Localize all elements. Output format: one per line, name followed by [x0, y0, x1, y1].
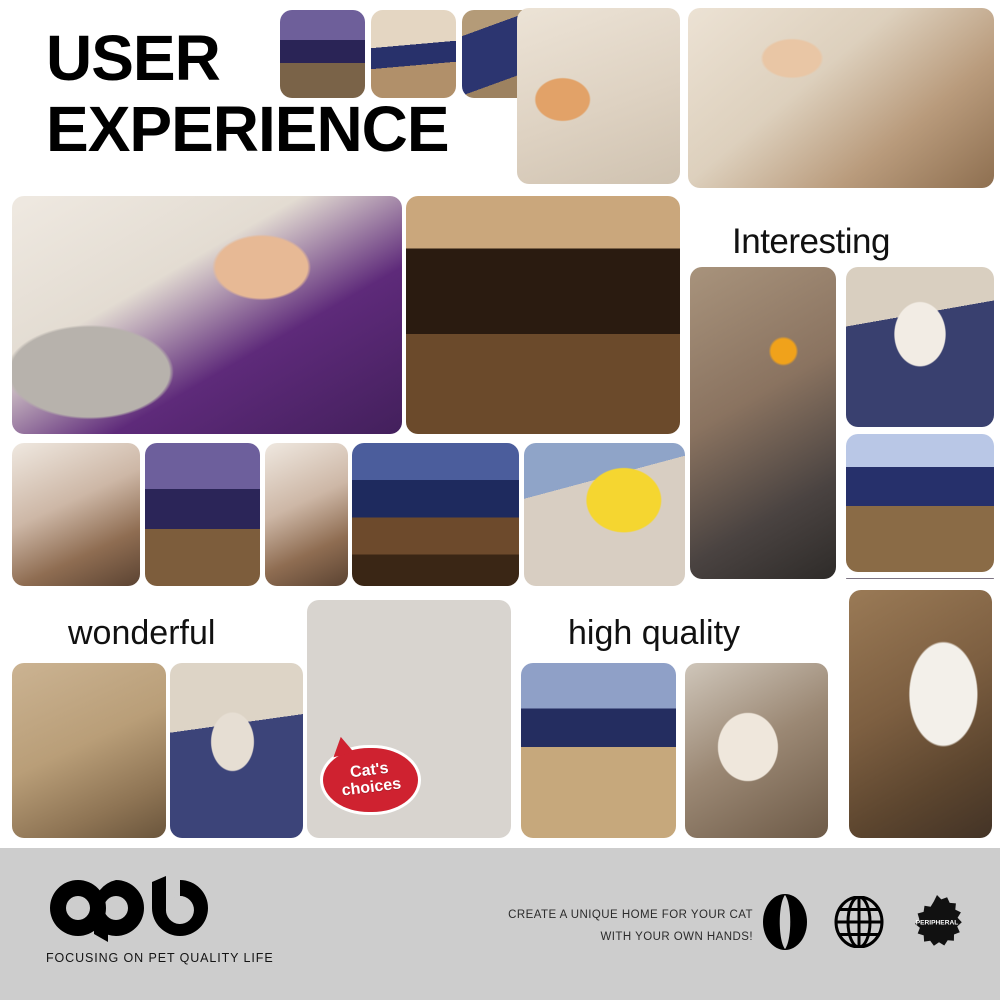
footer-copy-line-2: WITH YOUR OWN HANDS! — [505, 926, 753, 948]
caption-high-quality: high quality — [568, 614, 740, 653]
brand-logo: FOCUSING ON PET QUALITY LIFE — [46, 876, 274, 965]
page-title-line-1: USER — [46, 22, 220, 94]
promo-page: USER EXPERIENCE Interesting wonderful hi… — [0, 0, 1000, 1000]
footer: FOCUSING ON PET QUALITY LIFE CREATE A UN… — [0, 848, 1000, 1000]
footer-icon-group: PERIPHERAL — [762, 893, 964, 951]
photo-blue-eyed-cat-in-kimono — [846, 267, 994, 427]
caption-interesting: Interesting — [732, 222, 890, 262]
photo-woman-assembling-cat-villa — [688, 8, 994, 188]
peripheral-seal-icon: PERIPHERAL — [910, 895, 964, 949]
photo-cat-under-noren-curtain — [521, 663, 676, 838]
brand-tagline: FOCUSING ON PET QUALITY LIFE — [46, 951, 274, 965]
cats-choices-badge: Cat's choices — [323, 748, 418, 812]
eye-oval-icon — [762, 893, 808, 951]
photo-ragdoll-cat-front — [685, 663, 828, 838]
photo-white-cat-beside-sushi-shop — [265, 443, 348, 586]
page-title-line-2: EXPERIENCE — [46, 99, 516, 160]
photo-mini-blue-izakaya-setup — [846, 434, 994, 572]
photo-pikachu-plush-with-cat — [524, 443, 685, 586]
opb-logo-icon — [46, 876, 251, 942]
photo-cream-cat-climbing-ramp — [12, 443, 140, 586]
globe-icon — [834, 896, 884, 948]
badge-line-2: choices — [341, 776, 402, 800]
thumb-golden-cat-with-shop — [371, 10, 456, 98]
photo-white-cat-in-kimono-panel — [352, 443, 519, 586]
photo-white-kitten-with-instruction-sheet — [849, 590, 992, 838]
footer-copy-line-1: CREATE A UNIQUE HOME FOR YOUR CAT — [505, 904, 753, 926]
photo-hands-holding-lanterns — [145, 443, 260, 586]
thumb-tuxedo-cat-with-izakaya-house — [280, 10, 365, 98]
caption-wonderful: wonderful — [68, 614, 215, 653]
footer-copy: CREATE A UNIQUE HOME FOR YOUR CAT WITH Y… — [505, 904, 753, 949]
photo-cardboard-parts-flatpack — [12, 663, 166, 838]
photo-orange-cat-walking-to-izakaya — [517, 8, 680, 184]
photo-grey-cat-closeup-under-banner — [690, 267, 836, 579]
peripheral-seal-label: PERIPHERAL — [916, 920, 959, 927]
photo-cat-in-kimono-cutout — [170, 663, 303, 838]
photo-cat-house-detail — [846, 578, 994, 579]
badge-text: Cat's choices — [319, 742, 421, 817]
photo-white-cat-inside-izakaya-counter — [406, 196, 680, 434]
photo-man-petting-scottish-fold — [12, 196, 402, 434]
